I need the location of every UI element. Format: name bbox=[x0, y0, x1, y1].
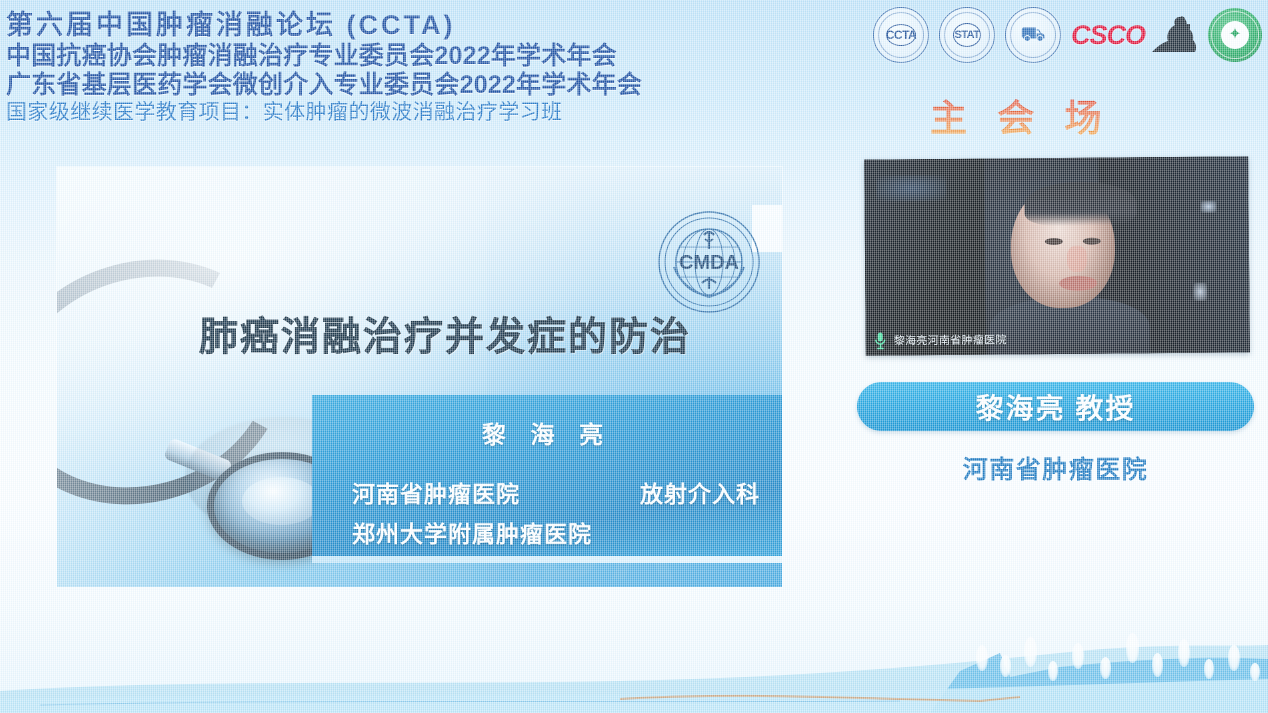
csco-logo: CSCO bbox=[1071, 12, 1198, 58]
slide-affiliation-line-2: 郑州大学附属肿瘤医院 bbox=[352, 515, 760, 549]
speaker-video-feed[interactable]: 黎海亮河南省肿瘤医院 bbox=[864, 156, 1250, 355]
wave-graphic bbox=[0, 593, 1268, 713]
conference-title-line-1: 第六届中国肿瘤消融论坛 (CCTA) bbox=[6, 12, 790, 39]
slide-affiliation-line-1: 河南省肿瘤医院 bbox=[352, 475, 520, 509]
slide-affiliation-block: 河南省肿瘤医院 放射介入科 郑州大学附属肿瘤医院 bbox=[352, 475, 760, 549]
deco-dot bbox=[1024, 637, 1037, 667]
deco-dot bbox=[1178, 639, 1190, 667]
participant-nose bbox=[1067, 246, 1087, 272]
participant-mouth bbox=[1059, 276, 1097, 291]
microphone-icon bbox=[874, 331, 887, 349]
main-hall-title: 主 会 场 bbox=[930, 88, 1112, 142]
leaf-icon: ✦ bbox=[1221, 21, 1249, 49]
video-highlight-2 bbox=[1201, 201, 1217, 213]
video-highlight-1 bbox=[876, 175, 946, 202]
speaker-name-pill: 黎海亮 教授 bbox=[857, 382, 1254, 431]
video-participant-overlay: 黎海亮河南省肿瘤医院 bbox=[874, 330, 1007, 349]
deco-dot bbox=[1000, 655, 1011, 677]
conference-subtitle-line-4: 国家级继续医学教育项目：实体肿瘤的微波消融治疗学习班 bbox=[6, 102, 790, 123]
ccta-logo-label: CCTA bbox=[886, 24, 916, 46]
presentation-slide: CMDA CMDA 肺癌消融治疗并发症的防治 黎 海 bbox=[57, 167, 782, 587]
video-scene bbox=[864, 156, 1250, 355]
deco-dot bbox=[1072, 643, 1084, 669]
deco-dot bbox=[1048, 661, 1058, 681]
participant-eye-right bbox=[1083, 238, 1101, 245]
slide-affiliation-row: 河南省肿瘤医院 放射介入科 bbox=[352, 475, 760, 509]
slide-title: 肺癌消融治疗并发症的防治 bbox=[199, 306, 691, 362]
video-participant bbox=[992, 179, 1144, 354]
broadcast-stage: 第六届中国肿瘤消融论坛 (CCTA) 中国抗癌协会肿瘤消融治疗专业委员会2022… bbox=[0, 0, 1268, 713]
sponsor-logo-strip: CCTA STAT ⛟ CSCO ✦ bbox=[822, 4, 1262, 66]
crab-icon: ⛟ bbox=[1020, 25, 1045, 45]
stat-logo-label: STAT bbox=[953, 23, 981, 47]
deco-dot bbox=[1152, 653, 1163, 677]
conference-header: 第六届中国肿瘤消融论坛 (CCTA) 中国抗癌协会肿瘤消融治疗专业委员会2022… bbox=[0, 0, 790, 160]
svg-text:CMDA: CMDA bbox=[679, 252, 739, 274]
stat-seal-icon: STAT bbox=[939, 7, 995, 63]
deco-dot bbox=[1100, 657, 1111, 679]
conference-title-line-3: 广东省基层医药学会微创介入专业委员会2022年学术年会 bbox=[6, 73, 790, 98]
participant-hair bbox=[1024, 181, 1136, 226]
deco-dot bbox=[1228, 645, 1240, 671]
slide-presenter-band: 黎 海 亮 河南省肿瘤医院 放射介入科 郑州大学附属肿瘤医院 bbox=[312, 395, 782, 563]
conference-title-line-2: 中国抗癌协会肿瘤消融治疗专业委员会2022年学术年会 bbox=[6, 44, 790, 69]
video-participant-label: 黎海亮河南省肿瘤医院 bbox=[894, 331, 1007, 348]
stat-logo: STAT bbox=[939, 7, 995, 63]
green-circle-icon: ✦ bbox=[1208, 8, 1262, 62]
deco-dot bbox=[1204, 659, 1214, 679]
slide-presenter-name: 黎 海 亮 bbox=[312, 415, 782, 450]
green-university-logo: ✦ bbox=[1208, 8, 1262, 62]
cmda-emblem-icon: CMDA bbox=[656, 209, 762, 315]
deco-dot bbox=[1126, 633, 1139, 663]
csco-logo-label: CSCO bbox=[1071, 20, 1145, 51]
ccta-logo: CCTA bbox=[873, 7, 929, 63]
anti-cancer-seal-icon: ⛟ bbox=[1005, 7, 1061, 63]
great-wall-icon bbox=[1146, 12, 1198, 58]
speaker-affiliation: 河南省肿瘤医院 bbox=[857, 450, 1254, 486]
china-anti-cancer-association-logo: ⛟ bbox=[1005, 7, 1061, 63]
deco-dot bbox=[976, 645, 988, 671]
slide-department: 放射介入科 bbox=[640, 475, 760, 509]
bottom-decoration bbox=[0, 593, 1268, 713]
speaker-name: 黎海亮 教授 bbox=[976, 387, 1136, 427]
video-highlight-3 bbox=[1193, 283, 1207, 301]
ccta-seal-icon: CCTA bbox=[873, 7, 929, 63]
participant-eye-left bbox=[1045, 238, 1063, 245]
deco-dot bbox=[1250, 663, 1260, 681]
participant-head bbox=[1010, 183, 1115, 308]
